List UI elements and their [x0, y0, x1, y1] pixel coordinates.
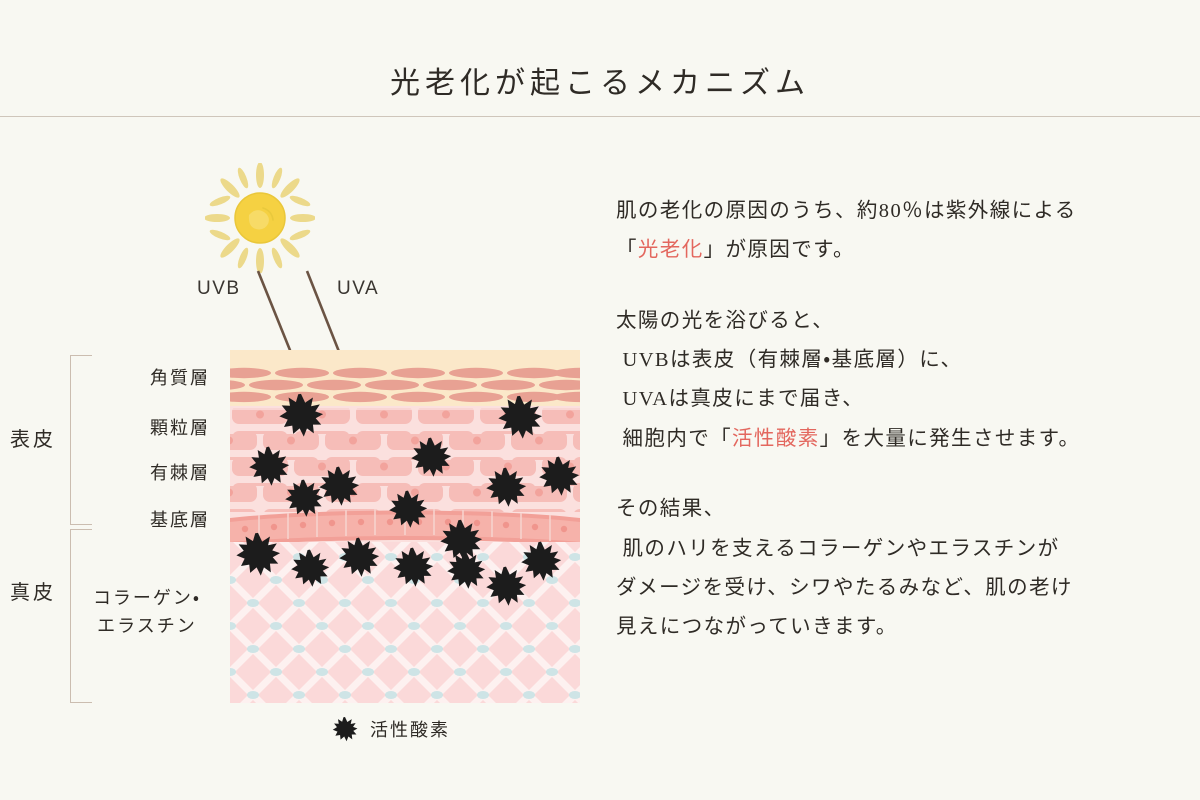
paragraph-cause: 肌の老化の原因のうち、約80％は紫外線による「光老化」が原因です。	[616, 192, 1186, 271]
group-label-epidermis: 表皮	[10, 423, 56, 452]
text-line: 肌のハリを支えるコラーゲンやエラスチンが	[616, 530, 1186, 569]
text-line: 見えにつながっていきます。	[616, 608, 1186, 647]
text-line: 太陽の光を浴びると、	[616, 302, 1186, 341]
group-label-dermis: 真皮	[10, 576, 56, 605]
infographic-root: 光老化が起こるメカニズム	[0, 0, 1200, 800]
text-line: その結果、	[616, 490, 1186, 529]
text-line: 肌の老化の原因のうち、約80％は紫外線による	[616, 192, 1186, 231]
text-segment: 」を大量に発生させます。	[820, 428, 1081, 450]
text-segment: UVBは表皮（有棘層・基底層）に、	[616, 349, 962, 371]
text-segment: 「	[616, 239, 638, 261]
text-segment: UVAは真皮にまで届き、	[616, 388, 864, 410]
paragraph-result: その結果、 肌のハリを支えるコラーゲンやエラスチンがダメージを受け、シワやたるみ…	[616, 490, 1186, 647]
header-divider	[0, 116, 1200, 117]
text-line: UVAは真皮にまで届き、	[616, 380, 1186, 419]
text-segment: 細胞内で「	[616, 428, 732, 450]
text-line: UVBは表皮（有棘層・基底層）に、	[616, 341, 1186, 380]
text-segment: 太陽の光を浴びると、	[616, 310, 834, 332]
legend: 活性酸素	[332, 716, 450, 742]
paragraph-mechanism: 太陽の光を浴びると、 UVBは表皮（有棘層・基底層）に、 UVAは真皮にまで届き…	[616, 302, 1186, 459]
explanation-text: 肌の老化の原因のうち、約80％は紫外線による「光老化」が原因です。 太陽の光を浴…	[616, 192, 1186, 648]
epidermis-bracket	[70, 355, 92, 525]
text-segment: ダメージを受け、シワやたるみなど、肌の老け	[616, 577, 1073, 599]
layer-label-stratum-corneum: 角質層	[100, 364, 210, 390]
layer-label-basal: 基底層	[100, 506, 210, 532]
page-title: 光老化が起こるメカニズム	[0, 58, 1200, 102]
text-line: 細胞内で「活性酸素」を大量に発生させます。	[616, 420, 1186, 459]
collagen-elastin-line1: コラーゲン・	[93, 588, 201, 608]
layer-label-spinous: 有棘層	[100, 459, 210, 485]
ros-burst-icon	[332, 716, 358, 742]
highlighted-term: 光老化	[638, 239, 704, 261]
layer-label-collagen-elastin: コラーゲン・ エラスチン	[82, 585, 212, 641]
collagen-elastin-line2: エラスチン	[97, 616, 197, 636]
uva-label: UVA	[337, 278, 379, 300]
text-segment: 肌のハリを支えるコラーゲンやエラスチンが	[616, 538, 1060, 560]
highlighted-term: 活性酸素	[732, 428, 820, 450]
legend-label: 活性酸素	[370, 716, 450, 742]
text-line: 「光老化」が原因です。	[616, 231, 1186, 270]
text-segment: その結果、	[616, 498, 726, 520]
layer-label-granular: 顆粒層	[100, 414, 210, 440]
text-segment: 」が原因です。	[704, 239, 855, 261]
uvb-label: UVB	[197, 278, 241, 300]
sun-icon	[205, 163, 315, 273]
text-segment: 肌の老化の原因のうち、約80％は紫外線による	[616, 200, 1077, 222]
skin-cross-section-diagram	[230, 350, 580, 703]
text-segment: 見えにつながっていきます。	[616, 616, 898, 638]
text-line: ダメージを受け、シワやたるみなど、肌の老け	[616, 569, 1186, 608]
